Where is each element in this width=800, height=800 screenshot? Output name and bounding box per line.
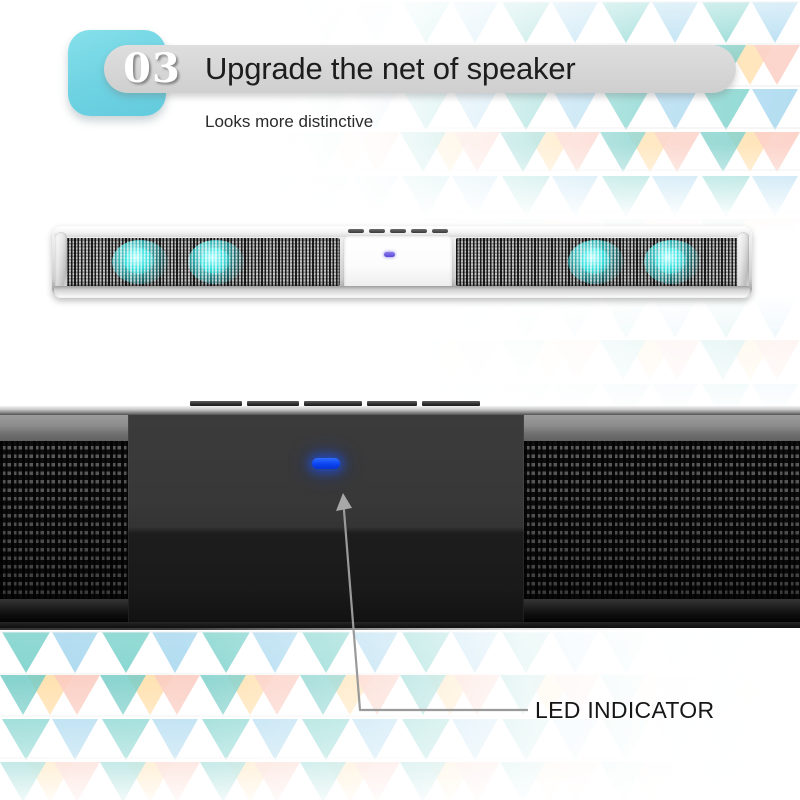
- soundbar-bottom-edge: [54, 286, 750, 297]
- led-indicator-small: [384, 252, 395, 257]
- speaker-grille-right: [456, 238, 740, 286]
- soundbar-shell: [52, 226, 752, 298]
- speaker-driver: [644, 240, 700, 284]
- callout-label: LED INDICATOR: [535, 696, 714, 724]
- speaker-driver: [112, 240, 168, 284]
- speaker-grille-right-closeup: [524, 415, 800, 626]
- silver-soundbar: [52, 226, 752, 298]
- speaker-driver: [188, 240, 244, 284]
- product-infographic-page: 03 Upgrade the net of speaker Looks more…: [0, 0, 800, 800]
- control-key-row-top[interactable]: [348, 229, 448, 234]
- grille-perforations: [0, 441, 128, 599]
- soundbar-end-cap-left: [55, 232, 67, 292]
- speaker-grille-left-closeup: [0, 415, 128, 626]
- center-face-panel: [128, 415, 524, 626]
- led-indicator: [312, 458, 340, 469]
- page-title: Upgrade the net of speaker: [205, 46, 576, 92]
- soundbar-end-cap-right: [737, 232, 749, 292]
- black-soundbar-closeup: [0, 398, 800, 634]
- section-header: 03 Upgrade the net of speaker Looks more…: [0, 0, 800, 150]
- speaker-driver: [568, 240, 624, 284]
- background-pattern-mid: [0, 295, 800, 415]
- soundbar-body: [0, 415, 800, 626]
- step-number: 03: [110, 44, 194, 94]
- speaker-grille-left: [64, 238, 340, 286]
- page-subtitle: Looks more distinctive: [205, 110, 373, 134]
- grille-perforations: [524, 441, 800, 599]
- center-control-panel[interactable]: [344, 236, 452, 290]
